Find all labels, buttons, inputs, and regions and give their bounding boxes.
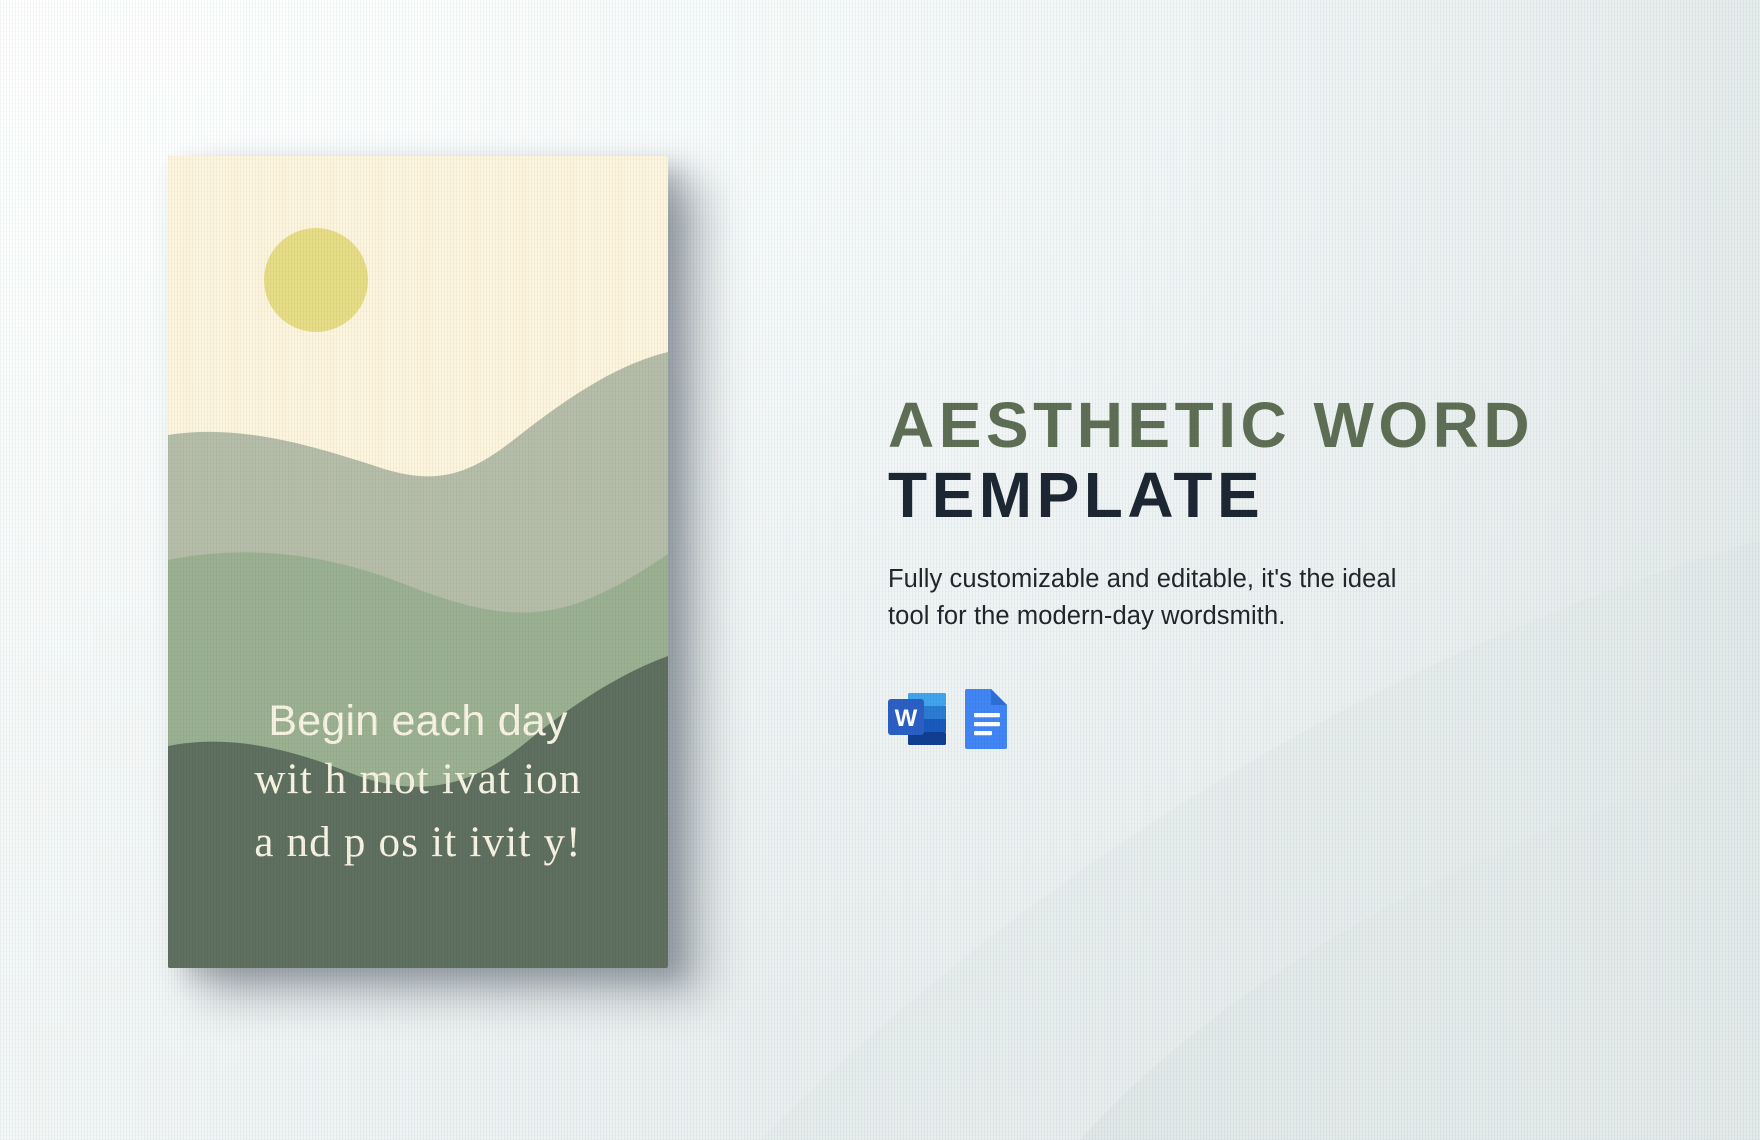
- poster-quote-line-2: wit h mot ivat ion: [186, 749, 650, 811]
- page-subtitle: Fully customizable and editable, it's th…: [888, 561, 1528, 635]
- screenshot-canvas: Begin each day wit h mot ivat ion a nd p…: [0, 0, 1760, 1140]
- app-format-icons: W: [888, 687, 1548, 749]
- svg-text:W: W: [895, 705, 918, 732]
- microsoft-word-icon[interactable]: W: [888, 687, 946, 749]
- page-subtitle-line-1: Fully customizable and editable, it's th…: [888, 561, 1528, 598]
- poster-quote-line-3: a nd p os it ivit y!: [186, 812, 650, 874]
- poster-card[interactable]: Begin each day wit h mot ivat ion a nd p…: [168, 156, 668, 968]
- poster-quote: Begin each day wit h mot ivat ion a nd p…: [168, 694, 668, 874]
- sun-shape: [264, 228, 368, 332]
- google-docs-icon[interactable]: [962, 687, 1012, 749]
- promo-copy-block: AESTHETIC WORD TEMPLATE Fully customizab…: [888, 390, 1548, 749]
- page-title-line-1: AESTHETIC WORD: [888, 390, 1548, 460]
- page-title-line-2: TEMPLATE: [888, 460, 1548, 530]
- poster-quote-line-1: Begin each day: [186, 694, 650, 749]
- page-subtitle-line-2: tool for the modern-day wordsmith.: [888, 598, 1528, 635]
